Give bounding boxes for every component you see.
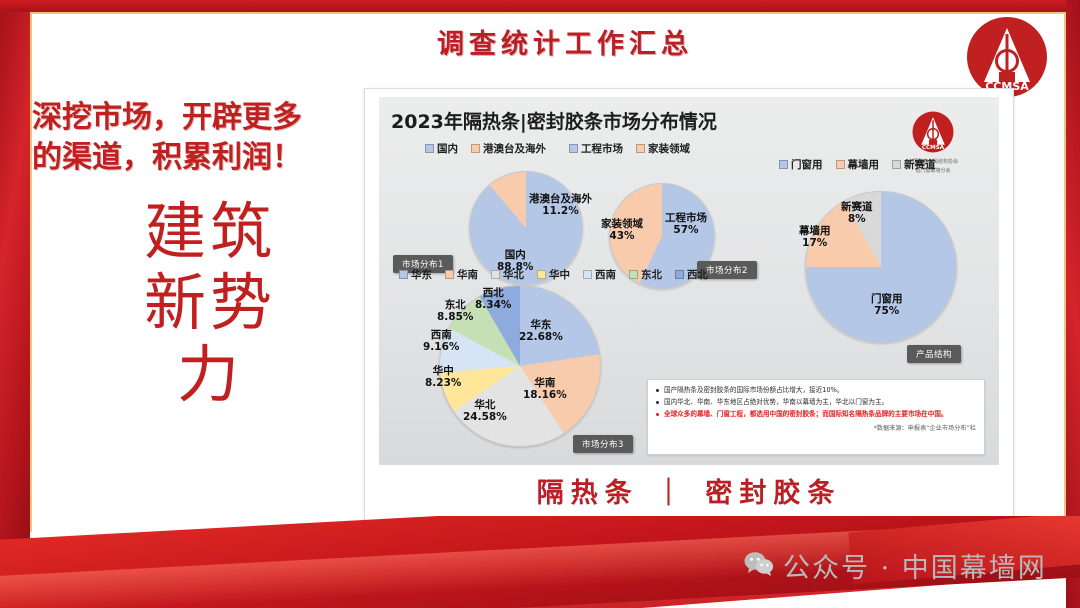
legend-label: 东北	[641, 267, 662, 282]
legend-item: 家装领域	[636, 141, 690, 156]
pie3-label-huanan-value: 18.16%	[523, 389, 567, 401]
legend-label: 国内	[437, 141, 458, 156]
note-item-highlighted: 全球众多的幕墙、门窗工程，都选用中国的密封胶条；而国际知名隔热条品牌的主要市场在…	[656, 410, 976, 418]
pie4-label-doorwindow: 门窗用 75%	[871, 293, 903, 318]
legend-item: 西北	[675, 267, 708, 282]
pie4-label-newtrack: 新赛道 8%	[841, 201, 873, 226]
pie3-label-xibei-value: 8.34%	[475, 299, 511, 311]
legend-label: 华东	[411, 267, 432, 282]
pie3-label-dongbei-value: 8.85%	[437, 311, 473, 323]
legend-label: 西南	[595, 267, 616, 282]
wechat-icon	[744, 551, 774, 581]
tag-product-structure: 产品结构	[907, 345, 961, 363]
legend-item: 幕墙用	[836, 157, 880, 172]
legend-item: 工程市场	[569, 141, 623, 156]
pie1-label-hkmo-name: 港澳台及海外	[529, 193, 592, 205]
note-item: 国产隔热条及密封胶条的国际市场份额占比增大，接近10%。	[656, 386, 976, 394]
pie3-label-xibei: 西北 8.34%	[475, 287, 511, 312]
legend-swatch	[675, 270, 684, 279]
legend-label: 工程市场	[581, 141, 623, 156]
legend-swatch	[471, 144, 480, 153]
legend-item: 华中	[537, 267, 570, 282]
pie4-label-doorwindow-value: 75%	[871, 305, 903, 317]
chart-panel: 2023年隔热条|密封胶条市场分布情况 CCMSA 中国建筑金属结构协会 铝门窗…	[379, 97, 999, 465]
legend-swatch	[425, 144, 434, 153]
legend-swatch	[569, 144, 578, 153]
pie1-label-domestic-name: 国内	[497, 249, 533, 261]
legend-swatch	[491, 270, 500, 279]
legend-label: 家装领域	[648, 141, 690, 156]
note-text: 国产隔热条及密封胶条的国际市场份额占比增大，接近10%。	[664, 386, 844, 394]
pie1-label-hkmo: 港澳台及海外 11.2%	[529, 193, 592, 218]
pie3-label-xinan: 西南 9.16%	[423, 329, 459, 354]
note-source: *数据来源：申报表“企业市场分布”栏	[656, 423, 976, 432]
legend-item: 西南	[583, 267, 616, 282]
legend-market-distribution-3: 华东 华南 华北 华中 西南 东北 西北	[399, 267, 717, 282]
big-slogan: 建筑 新势 力	[110, 196, 310, 410]
legend-swatch	[779, 160, 788, 169]
note-text: 国内华北、华南、华东地区占绝对优势，华南以幕墙为主，华北以门窗为主。	[664, 398, 888, 406]
legend-item: 华南	[445, 267, 478, 282]
pie3-label-huabei-value: 24.58%	[463, 411, 507, 423]
ccmsa-logo-icon: CCMSA	[966, 16, 1048, 98]
pie4-label-newtrack-name: 新赛道	[841, 201, 873, 213]
lead-headline-line1: 深挖市场，开辟更多	[32, 98, 362, 138]
pie3-label-xinan-name: 西南	[423, 329, 459, 341]
pie4-label-curtainwall-value: 17%	[799, 237, 831, 249]
pie3-label-huadong-name: 华东	[519, 319, 563, 331]
legend-label: 西北	[687, 267, 708, 282]
bullet-icon	[656, 401, 659, 404]
legend-item: 华东	[399, 267, 432, 282]
pie2-label-home-value: 43%	[601, 230, 643, 242]
frame-top-band	[0, 0, 1080, 12]
legend-label: 港澳台及海外	[483, 141, 546, 156]
pie3-label-huabei-name: 华北	[463, 399, 507, 411]
pie-product-structure	[805, 191, 957, 343]
legend-label: 华南	[457, 267, 478, 282]
page-title: 调查统计工作汇总	[330, 22, 800, 61]
legend-label: 门窗用	[791, 157, 823, 172]
pie3-label-xibei-name: 西北	[475, 287, 511, 299]
lead-headline: 深挖市场，开辟更多 的渠道，积累利润！	[32, 98, 362, 177]
legend-swatch	[629, 270, 638, 279]
pie2-label-home: 家装领域 43%	[601, 218, 643, 243]
pie3-label-xinan-value: 9.16%	[423, 341, 459, 353]
wechat-label: 公众号 · 中国幕墙网	[783, 546, 1047, 585]
note-item: 国内华北、华南、华东地区占绝对优势，华南以幕墙为主，华北以门窗为主。	[656, 398, 976, 406]
pie2-label-project: 工程市场 57%	[665, 212, 707, 237]
legend-label: 幕墙用	[848, 157, 880, 172]
pie4-label-doorwindow-name: 门窗用	[871, 293, 903, 305]
pie3-label-huanan-name: 华南	[523, 377, 567, 389]
legend-item: 港澳台及海外	[471, 141, 546, 156]
pie3-label-huadong-value: 22.68%	[519, 331, 563, 343]
legend-item: 华北	[491, 267, 524, 282]
chart-panel-title: 2023年隔热条|密封胶条市场分布情况	[391, 107, 717, 134]
legend-swatch	[445, 270, 454, 279]
notes-box: 国产隔热条及密封胶条的国际市场份额占比增大，接近10%。 国内华北、华南、华东地…	[647, 379, 985, 455]
legend-label: 华北	[503, 267, 524, 282]
tag-market-distribution-3: 市场分布3	[573, 435, 633, 453]
gold-divider-right	[1064, 12, 1066, 532]
pie3-label-huabei: 华北 24.58%	[463, 399, 507, 424]
wechat-credit: 公众号 · 中国幕墙网	[744, 546, 1047, 585]
pie3-label-huanan: 华南 18.16%	[523, 377, 567, 402]
note-text: 全球众多的幕墙、门窗工程，都选用中国的密封胶条；而国际知名隔热条品牌的主要市场在…	[664, 410, 948, 418]
legend-item: 门窗用	[779, 157, 823, 172]
big-slogan-line2: 新势	[110, 267, 310, 338]
gold-divider-left	[30, 12, 32, 532]
big-slogan-line1: 建筑	[110, 196, 310, 267]
pie2-label-project-value: 57%	[665, 224, 707, 236]
pie4-label-curtainwall: 幕墙用 17%	[799, 225, 831, 250]
legend-swatch	[892, 160, 901, 169]
slide-canvas: 调查统计工作汇总 CCMSA 深挖市场，开辟更多 的渠道，积累利润！ 建筑 新势…	[0, 0, 1080, 608]
pie1-label-hkmo-value: 11.2%	[529, 205, 592, 217]
pie3-label-huazhong-value: 8.23%	[425, 377, 461, 389]
content-card: 2023年隔热条|密封胶条市场分布情况 CCMSA 中国建筑金属结构协会 铝门窗…	[364, 88, 1014, 542]
legend-market-distribution-1-2: 国内 港澳台及海外 工程市场 家装领域	[425, 141, 699, 156]
pie3-label-dongbei: 东北 8.85%	[437, 299, 473, 324]
legend-label: 新赛道	[904, 157, 936, 172]
svg-text:CCMSA: CCMSA	[922, 145, 945, 151]
pie4-label-curtainwall-name: 幕墙用	[799, 225, 831, 237]
legend-swatch	[399, 270, 408, 279]
pie2-label-home-name: 家装领域	[601, 218, 643, 230]
pie4-label-newtrack-value: 8%	[841, 213, 873, 225]
legend-item: 国内	[425, 141, 458, 156]
legend-item: 新赛道	[892, 157, 936, 172]
pie3-label-dongbei-name: 东北	[437, 299, 473, 311]
legend-product-structure: 门窗用 幕墙用 新赛道	[779, 157, 945, 172]
pie2-label-project-name: 工程市场	[665, 212, 707, 224]
gold-divider-top	[30, 12, 1066, 14]
legend-swatch	[836, 160, 845, 169]
legend-label: 华中	[549, 267, 570, 282]
lead-headline-line2: 的渠道，积累利润！	[32, 138, 362, 178]
legend-swatch	[583, 270, 592, 279]
pie3-label-huazhong: 华中 8.23%	[425, 365, 461, 390]
big-slogan-line3: 力	[110, 339, 310, 410]
card-footer-title: 隔热条 ｜ 密封胶条	[365, 471, 1013, 510]
pie3-label-huadong: 华东 22.68%	[519, 319, 563, 344]
legend-swatch	[537, 270, 546, 279]
bullet-icon	[656, 389, 659, 392]
legend-item: 东北	[629, 267, 662, 282]
pie3-label-huazhong-name: 华中	[425, 365, 461, 377]
legend-swatch	[636, 144, 645, 153]
bullet-icon	[656, 413, 659, 416]
